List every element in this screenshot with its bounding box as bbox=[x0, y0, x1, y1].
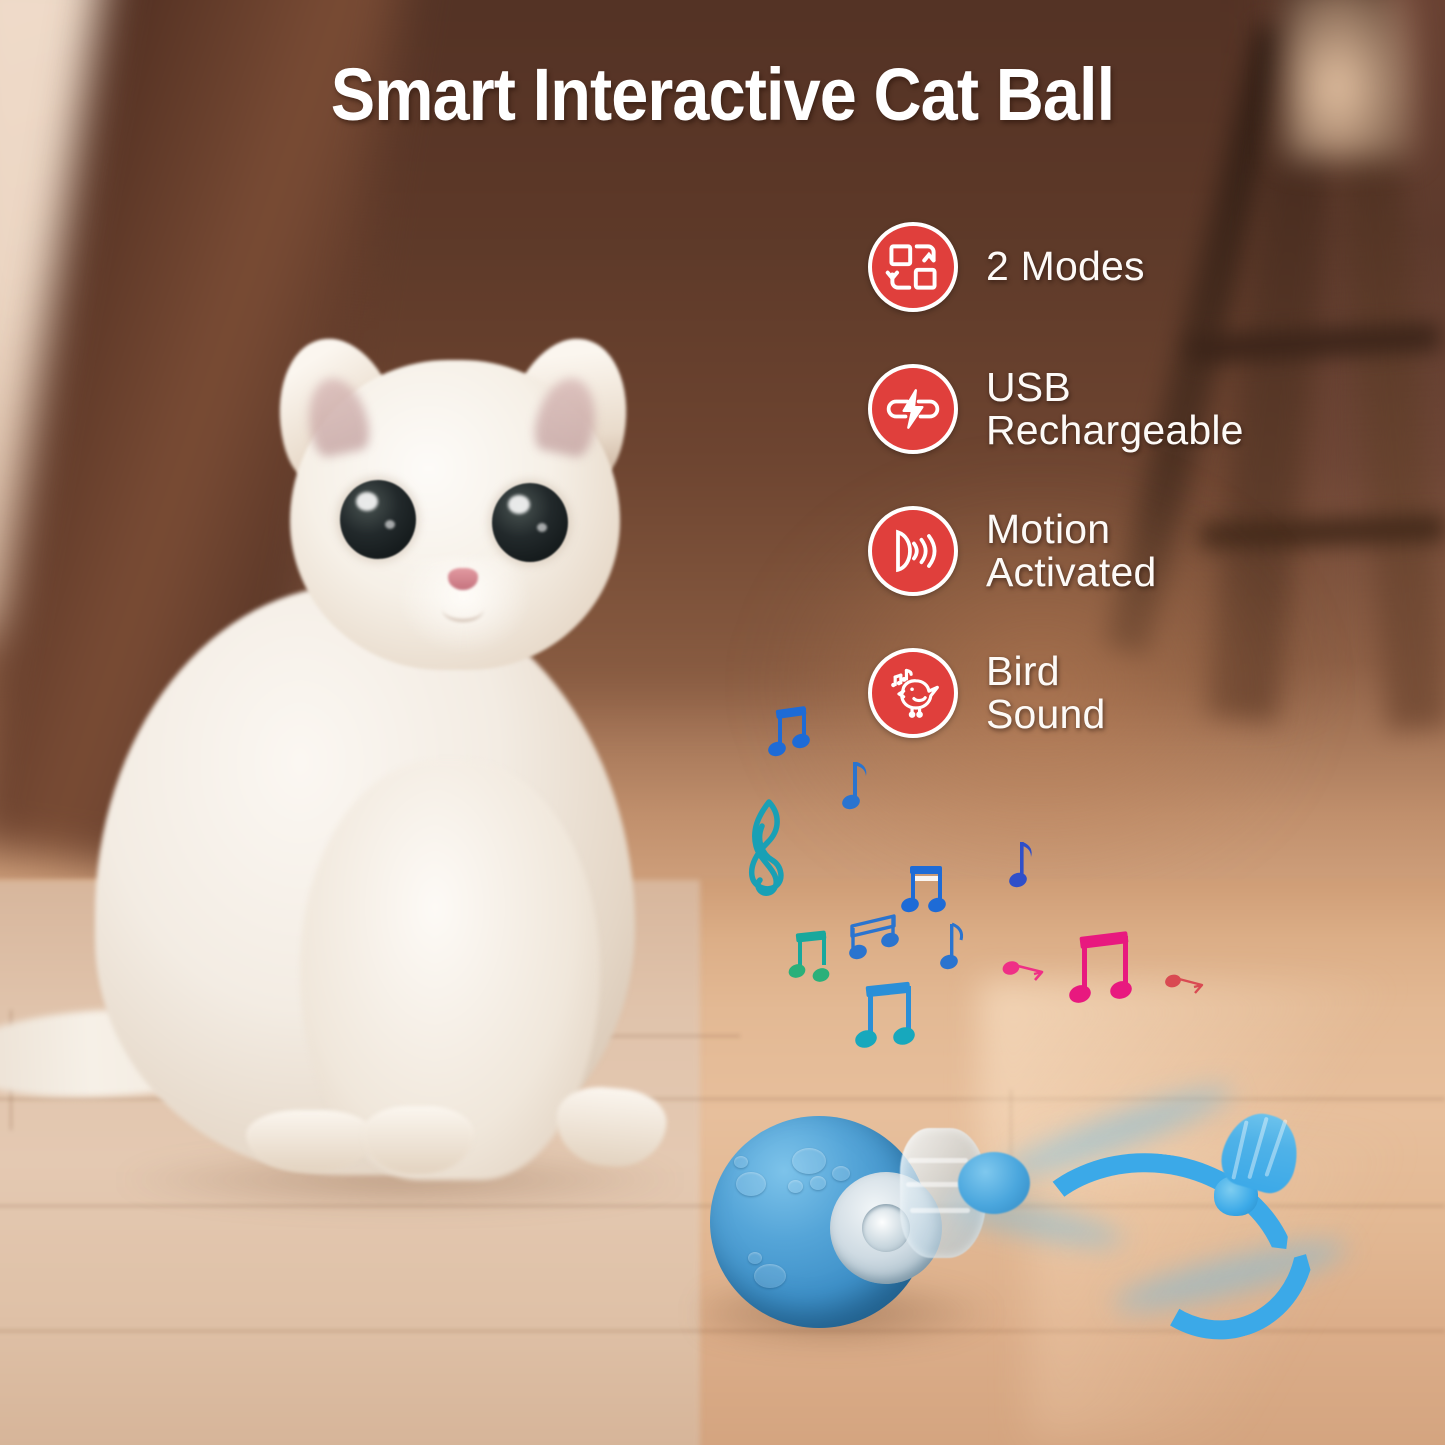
paw-print-emboss bbox=[748, 1252, 762, 1264]
product-marketing-image: Smart Interactive Cat Ball 2 Modes bbox=[0, 0, 1445, 1445]
cat-photo-subject bbox=[0, 320, 760, 1220]
paw-print-emboss bbox=[734, 1156, 748, 1168]
feature-label: USB Rechargeable bbox=[986, 366, 1244, 453]
cat-eye-highlight bbox=[508, 495, 530, 514]
feature-item-usb-rechargeable: USB Rechargeable bbox=[868, 364, 1338, 454]
page-title: Smart Interactive Cat Ball bbox=[72, 52, 1373, 137]
feature-item-2-modes: 2 Modes bbox=[868, 222, 1338, 312]
paw-print-emboss bbox=[736, 1172, 766, 1196]
paw-print-emboss bbox=[754, 1264, 786, 1288]
motion-sensor-waves-icon bbox=[868, 506, 958, 596]
paw-print-emboss bbox=[810, 1176, 826, 1190]
paw-print-emboss bbox=[788, 1180, 803, 1193]
feature-item-bird-sound: Bird Sound bbox=[868, 648, 1338, 738]
feature-label: 2 Modes bbox=[986, 245, 1145, 288]
rope-anchor-knob bbox=[958, 1152, 1030, 1214]
feature-label: Bird Sound bbox=[986, 650, 1106, 737]
cat-mouth bbox=[442, 596, 484, 622]
cat-ball-product bbox=[690, 1080, 1445, 1410]
cat-eye-highlight bbox=[537, 523, 547, 532]
cat-eye-highlight bbox=[356, 492, 378, 511]
feature-list: 2 Modes USB Rechargeable bbox=[868, 222, 1338, 738]
cat-eye-right bbox=[492, 483, 568, 562]
two-modes-swap-icon bbox=[868, 222, 958, 312]
usb-charging-bolt-icon bbox=[868, 364, 958, 454]
cat-eye-highlight bbox=[385, 520, 395, 529]
clip-ridge bbox=[908, 1158, 968, 1163]
clip-ridge bbox=[906, 1182, 966, 1187]
feature-label: Motion Activated bbox=[986, 508, 1156, 595]
clip-ridge bbox=[910, 1208, 970, 1213]
paw-print-emboss bbox=[832, 1166, 850, 1181]
bird-with-music-notes-icon bbox=[868, 648, 958, 738]
cat-eye-left bbox=[340, 480, 416, 559]
paw-print-emboss bbox=[792, 1148, 826, 1174]
feature-item-motion-activated: Motion Activated bbox=[868, 506, 1338, 596]
